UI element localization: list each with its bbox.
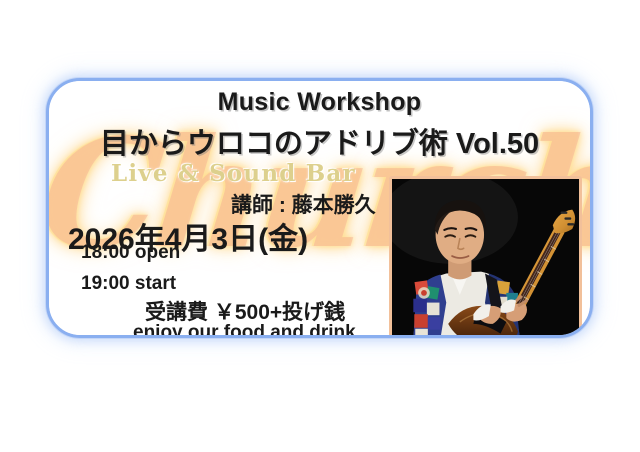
title-english: Music Workshop: [49, 88, 590, 117]
venue-name: Live & Sound Bar: [111, 160, 356, 187]
guitarist-photo-illustration: [392, 179, 579, 338]
open-time: 18:00 open: [81, 242, 180, 264]
flyer-root: Church Music Workshop 目からウロコのアドリブ術 Vol.5…: [0, 0, 640, 452]
title-japanese: 目からウロコのアドリブ術 Vol.50: [49, 120, 590, 162]
flyer-content: Music Workshop 目からウロコのアドリブ術 Vol.50 Live …: [49, 81, 590, 335]
guitarist-photo: [389, 176, 582, 338]
food-drink-note: enjoy our food and drink: [133, 322, 356, 338]
flyer-card: Church Music Workshop 目からウロコのアドリブ術 Vol.5…: [46, 78, 593, 338]
start-time: 19:00 start: [81, 273, 176, 295]
